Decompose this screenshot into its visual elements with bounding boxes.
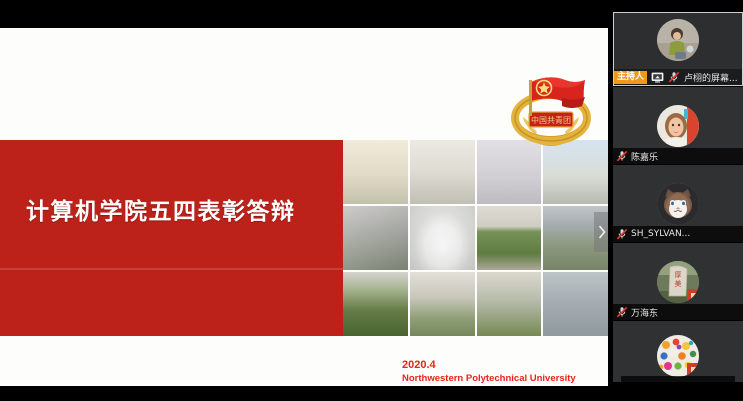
photo-campus-buildings <box>343 206 408 270</box>
microphone-muted-icon <box>616 150 628 162</box>
participant-tile[interactable] <box>613 321 743 382</box>
participant-filmstrip[interactable]: 主持人卢栩的屏幕...陈嘉乐SH_SYLVAN...厚美万海东 <box>613 0 743 401</box>
svg-text:厚: 厚 <box>675 271 682 279</box>
campus-photo-collage <box>343 140 608 336</box>
flowers-photo-avatar <box>657 335 699 377</box>
participant-name: 万海东 <box>631 306 658 319</box>
stone-monument-avatar: 厚美 <box>657 261 699 303</box>
microphone-muted-icon <box>668 71 680 83</box>
participant-name-bar <box>621 376 735 382</box>
participant-tile[interactable]: 厚美万海东 <box>613 243 743 320</box>
footer-university: Northwestern Polytechnical University <box>402 373 576 386</box>
participant-name: 陈嘉乐 <box>631 150 658 163</box>
screen-share-icon <box>651 72 664 83</box>
participant-name-bar: SH_SYLVAN... <box>613 226 743 242</box>
participant-name: SH_SYLVAN... <box>631 229 690 239</box>
cat-photo-avatar <box>657 183 699 225</box>
participant-tile[interactable]: 陈嘉乐 <box>613 87 743 164</box>
page-title: 计算机学院五四表彰答辩 <box>26 192 326 226</box>
shared-screen-area[interactable]: 计算机学院五四表彰答辩 <box>0 28 608 386</box>
microphone-muted-icon <box>616 306 628 318</box>
slide-next-arrow-button[interactable] <box>594 212 608 252</box>
host-badge: 主持人 <box>614 71 647 84</box>
photo-sky-field <box>343 140 408 204</box>
title-divider <box>0 268 343 270</box>
participant-tile[interactable]: SH_SYLVAN... <box>613 165 743 242</box>
photo-stadium-track <box>477 206 542 270</box>
photo-lake-water <box>543 272 608 336</box>
slide-footer: 2020.4 Northwestern Polytechnical Univer… <box>402 358 576 386</box>
photo-tree-grove <box>343 272 408 336</box>
communist-youth-league-emblem-icon: 中国共青团 <box>505 68 597 148</box>
participant-name-bar: 主持人卢栩的屏幕... <box>614 69 742 85</box>
meeting-window: 计算机学院五四表彰答辩 <box>0 0 743 401</box>
photo-gymnasium-dome <box>410 206 475 270</box>
microphone-muted-icon <box>616 228 628 240</box>
participant-name-bar: 陈嘉乐 <box>613 148 743 164</box>
participant-name-bar: 万海东 <box>613 304 743 320</box>
photo-sky-town <box>543 140 608 204</box>
photo-haze-sky <box>477 140 542 204</box>
participant-name: 卢栩的屏幕... <box>684 71 738 84</box>
title-block: 计算机学院五四表彰答辩 <box>0 140 343 336</box>
participant-tile[interactable]: 主持人卢栩的屏幕... <box>613 12 743 86</box>
photo-garden-plaza <box>410 272 475 336</box>
svg-text:中国共青团: 中国共青团 <box>531 115 571 125</box>
woman-photo-avatar <box>657 105 699 147</box>
footer-year: 2020.4 <box>402 358 576 373</box>
presentation-slide: 计算机学院五四表彰答辩 <box>0 28 608 386</box>
photo-sky-plain <box>410 140 475 204</box>
svg-text:美: 美 <box>675 279 682 288</box>
child-photo-avatar <box>657 19 699 61</box>
photo-walking-path <box>477 272 542 336</box>
